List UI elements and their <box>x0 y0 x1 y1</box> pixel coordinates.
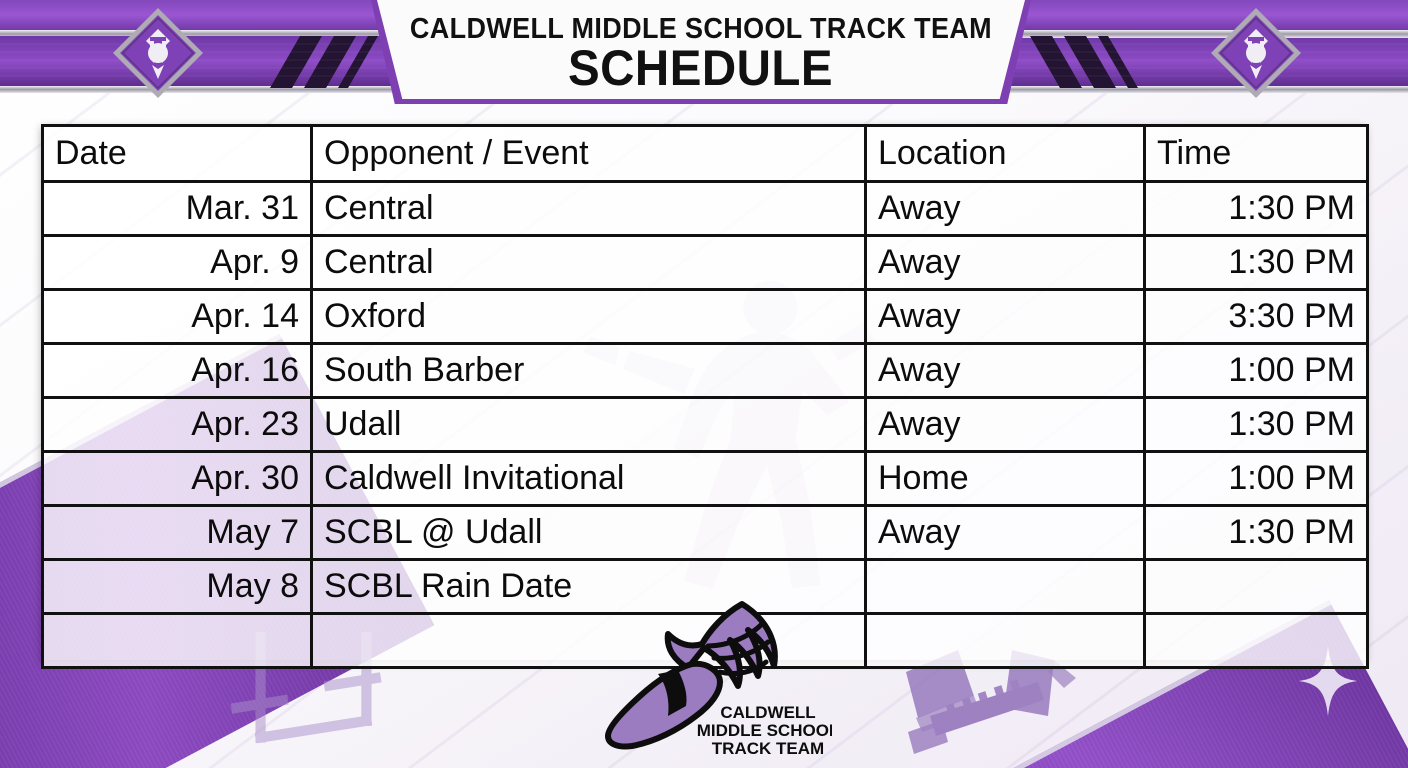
cell-opponent: Caldwell Invitational <box>312 452 866 506</box>
cell-location: Away <box>866 182 1145 236</box>
cell-date: Apr. 16 <box>43 344 312 398</box>
cell-opponent: Central <box>312 236 866 290</box>
cell-time: 1:30 PM <box>1145 506 1368 560</box>
column-header-date: Date <box>43 126 312 182</box>
schedule-table-body: Mar. 31 Central Away 1:30 PM Apr. 9 Cent… <box>43 182 1368 668</box>
schedule-slide: CALDWELL MIDDLE SCHOOL TRACK TEAM SCHEDU… <box>0 0 1408 768</box>
table-row: Apr. 16 South Barber Away 1:00 PM <box>43 344 1368 398</box>
table-row: Apr. 30 Caldwell Invitational Home 1:00 … <box>43 452 1368 506</box>
cell-time: 1:30 PM <box>1145 236 1368 290</box>
cell-opponent: Oxford <box>312 290 866 344</box>
cell-time: 1:00 PM <box>1145 344 1368 398</box>
cell-date: May 7 <box>43 506 312 560</box>
logo-line-1: CALDWELL <box>720 703 815 722</box>
cell-date: Apr. 14 <box>43 290 312 344</box>
cell-location <box>866 614 1145 668</box>
table-row: May 7 SCBL @ Udall Away 1:30 PM <box>43 506 1368 560</box>
cell-date: May 8 <box>43 560 312 614</box>
cell-location: Away <box>866 506 1145 560</box>
table-row: Apr. 9 Central Away 1:30 PM <box>43 236 1368 290</box>
cell-opponent: Central <box>312 182 866 236</box>
table-row: Mar. 31 Central Away 1:30 PM <box>43 182 1368 236</box>
team-logo: CALDWELL MIDDLE SCHOOL TRACK TEAM <box>592 596 832 764</box>
cell-time: 1:30 PM <box>1145 398 1368 452</box>
table-row: Apr. 23 Udall Away 1:30 PM <box>43 398 1368 452</box>
cell-time: 3:30 PM <box>1145 290 1368 344</box>
cell-opponent: Udall <box>312 398 866 452</box>
logo-line-3: TRACK TEAM <box>712 739 824 758</box>
logo-line-2: MIDDLE SCHOOL <box>697 721 832 740</box>
cell-date: Apr. 9 <box>43 236 312 290</box>
cell-time: 1:00 PM <box>1145 452 1368 506</box>
cell-location: Away <box>866 236 1145 290</box>
page-title: SCHEDULE <box>568 43 833 94</box>
cell-location: Away <box>866 290 1145 344</box>
winged-foot-icon: CALDWELL MIDDLE SCHOOL TRACK TEAM <box>592 596 832 764</box>
cell-date: Mar. 31 <box>43 182 312 236</box>
cell-time <box>1145 614 1368 668</box>
table-header-row: Date Opponent / Event Location Time <box>43 126 1368 182</box>
column-header-opponent: Opponent / Event <box>312 126 866 182</box>
diamond-crest-icon <box>1210 7 1302 99</box>
schedule-table: Date Opponent / Event Location Time Mar.… <box>41 124 1369 669</box>
cell-location <box>866 560 1145 614</box>
schedule-table-container: Date Opponent / Event Location Time Mar.… <box>41 124 1366 660</box>
cell-location: Away <box>866 398 1145 452</box>
cell-time <box>1145 560 1368 614</box>
column-header-location: Location <box>866 126 1145 182</box>
cell-time: 1:30 PM <box>1145 182 1368 236</box>
top-banner: CALDWELL MIDDLE SCHOOL TRACK TEAM SCHEDU… <box>0 0 1408 112</box>
column-header-time: Time <box>1145 126 1368 182</box>
cell-location: Home <box>866 452 1145 506</box>
cell-location: Away <box>866 344 1145 398</box>
cell-date: Apr. 30 <box>43 452 312 506</box>
title-text-group: CALDWELL MIDDLE SCHOOL TRACK TEAM SCHEDU… <box>371 0 1031 104</box>
cell-date: Apr. 23 <box>43 398 312 452</box>
diamond-crest-icon <box>112 7 204 99</box>
cell-opponent: South Barber <box>312 344 866 398</box>
table-row: Apr. 14 Oxford Away 3:30 PM <box>43 290 1368 344</box>
title-plate: CALDWELL MIDDLE SCHOOL TRACK TEAM SCHEDU… <box>371 0 1031 104</box>
cell-opponent: SCBL @ Udall <box>312 506 866 560</box>
cell-date <box>43 614 312 668</box>
